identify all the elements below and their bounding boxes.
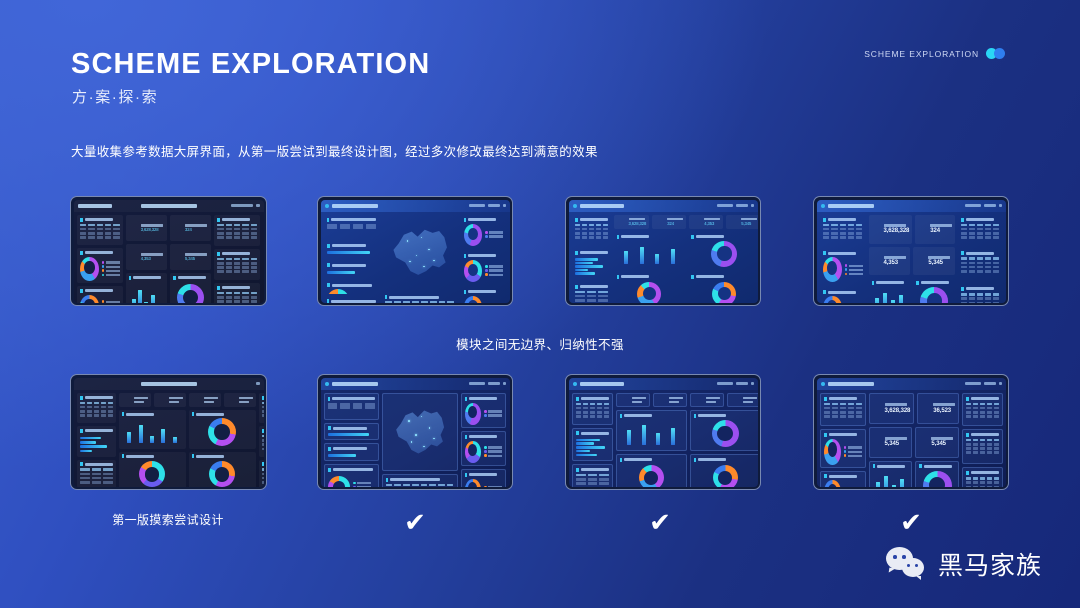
donut-chart xyxy=(920,287,948,303)
toggle-pill-icon[interactable] xyxy=(986,48,1008,59)
shield-icon xyxy=(873,403,882,414)
thumbnail-bottom-3[interactable] xyxy=(565,374,761,490)
donut-chart-card xyxy=(690,410,758,451)
donut-chart xyxy=(823,257,842,282)
bar-chart-card xyxy=(614,232,686,269)
shield-icon xyxy=(694,395,703,406)
donut-chart-card xyxy=(189,452,256,487)
shield-icon xyxy=(620,395,629,406)
kpi-card[interactable]: 324 xyxy=(915,215,955,244)
donut-chart xyxy=(711,241,737,267)
footer-brand: 黑马家族 xyxy=(886,546,1042,582)
kpi-value: 36,523 xyxy=(933,408,955,414)
thumbnail-bottom-2[interactable] xyxy=(317,374,513,490)
donut-chart xyxy=(177,284,204,303)
donut-chart xyxy=(713,465,738,486)
kpi-card[interactable] xyxy=(224,393,256,407)
donut-chart-card xyxy=(170,273,211,302)
kpi-value: 4,353 xyxy=(884,260,906,266)
donut-chart xyxy=(712,282,736,303)
shield-icon xyxy=(192,394,201,405)
shield-icon xyxy=(731,395,740,406)
kpi-card[interactable]: 3,628,328 xyxy=(869,393,915,424)
kpi-value: 5,345 xyxy=(885,441,907,447)
kpi-value: 5,345 xyxy=(931,441,953,447)
donut-chart xyxy=(80,257,99,281)
thumb-left-column xyxy=(77,215,123,303)
kpi-value: 4,353 xyxy=(141,257,163,261)
kpi-card[interactable] xyxy=(690,393,724,407)
bar-chart-card xyxy=(869,278,911,302)
thumb-header xyxy=(817,200,1006,212)
thumbnail-bottom-1[interactable] xyxy=(70,374,267,490)
logo-dot-icon xyxy=(821,382,825,386)
kpi-value: 324 xyxy=(930,228,952,234)
thumb-header xyxy=(74,200,264,212)
donut-chart xyxy=(824,439,841,465)
kpi-card[interactable]: 5,345 xyxy=(869,427,913,458)
donut-chart-card xyxy=(688,272,757,302)
shield-icon xyxy=(692,217,701,228)
province-map xyxy=(386,397,454,468)
donut-chart xyxy=(327,289,349,294)
donut-chart xyxy=(80,295,99,303)
kpi-card[interactable]: 5,345 xyxy=(913,247,955,276)
donut-chart-card xyxy=(614,272,686,302)
thumb-header xyxy=(569,200,758,212)
shield-icon xyxy=(617,217,626,228)
donut-chart xyxy=(824,480,841,486)
donut-chart-card xyxy=(690,454,758,486)
checkmark-icon-2: ✔ xyxy=(395,509,435,535)
corner-badge-label: SCHEME EXPLORATION xyxy=(864,49,979,59)
checkmark-icon-3: ✔ xyxy=(640,509,680,535)
kpi-card[interactable]: 4,353 xyxy=(689,215,723,229)
thumb-header xyxy=(321,378,510,390)
province-map xyxy=(382,215,458,290)
kpi-card[interactable] xyxy=(727,393,758,407)
shield-icon xyxy=(655,217,664,228)
kpi-card[interactable] xyxy=(616,393,650,407)
donut-chart-card xyxy=(119,452,186,487)
caption-first-version: 第一版摸索尝试设计 xyxy=(70,511,266,528)
page-subtitle: 方·案·探·索 xyxy=(72,86,158,107)
donut-chart-card xyxy=(616,454,687,486)
logo-dot-icon xyxy=(325,382,329,386)
kpi-value: 5,345 xyxy=(928,260,950,266)
kpi-card[interactable]: 4,353 xyxy=(126,244,167,270)
donut-chart xyxy=(464,296,483,303)
kpi-card[interactable]: 324 xyxy=(652,215,686,229)
kpi-card[interactable]: 36,523 xyxy=(917,393,959,424)
donut-chart xyxy=(464,260,483,282)
caption-middle: 模块之间无边界、归纳性不强 xyxy=(0,334,1080,353)
donut-chart xyxy=(209,461,235,486)
donut-chart xyxy=(923,471,952,487)
donut-chart xyxy=(464,224,483,246)
kpi-value: 3,628,328 xyxy=(884,228,910,234)
shield-icon xyxy=(916,256,925,267)
thumb-header xyxy=(817,378,1006,390)
user-icon xyxy=(918,224,927,235)
shield-icon xyxy=(919,437,928,448)
logo-dot-icon xyxy=(821,204,825,208)
donut-chart xyxy=(639,465,664,486)
kpi-card[interactable] xyxy=(653,393,687,407)
lead-paragraph: 大量收集参考数据大屏界面，从第一版尝试到最终设计图，经过多次修改最终达到满意的效… xyxy=(71,141,598,160)
donut-chart xyxy=(465,403,482,425)
shield-icon xyxy=(173,252,182,263)
footer-brand-name: 黑马家族 xyxy=(938,546,1042,582)
bar-chart-card xyxy=(616,410,687,451)
bar-chart-card xyxy=(869,461,913,487)
kpi-value: 5,345 xyxy=(185,257,207,261)
kpi-card[interactable]: 5,345 xyxy=(726,215,757,229)
kpi-value: 324 xyxy=(185,228,207,232)
bar-chart-card xyxy=(119,410,186,449)
donut-chart xyxy=(712,420,739,447)
kpi-card[interactable]: 4,353 xyxy=(869,247,911,276)
shield-icon xyxy=(122,394,131,405)
kpi-card[interactable]: 3,628,328 xyxy=(126,215,167,241)
donut-chart-card xyxy=(913,278,955,302)
donut-chart xyxy=(465,441,482,463)
donut-chart xyxy=(139,461,165,486)
donut-chart xyxy=(465,479,482,487)
shield-icon xyxy=(873,437,882,448)
thumb-header xyxy=(569,378,758,390)
donut-chart-card xyxy=(915,461,959,487)
kpi-value: 3,628,328 xyxy=(885,408,911,414)
donut-chart-card xyxy=(688,232,757,269)
kpi-card[interactable]: 3,628,328 xyxy=(614,215,650,229)
corner-badge: SCHEME EXPLORATION xyxy=(864,48,1008,59)
kpi-card[interactable] xyxy=(189,393,221,407)
thumbnail-bottom-4[interactable]: 3,628,328 36,523 5,345 xyxy=(813,374,1009,490)
thumb-center-column: 3,628,328 324 4,353 xyxy=(126,215,212,303)
kpi-card[interactable]: 5,345 xyxy=(915,427,959,458)
kpi-card[interactable] xyxy=(154,393,186,407)
thumbnail-top-3[interactable]: 3,628,328 324 4,353 5,345 xyxy=(565,196,761,306)
wechat-icon xyxy=(886,547,928,581)
shield-icon xyxy=(129,223,138,234)
thumb-header xyxy=(74,378,264,390)
shield-icon xyxy=(227,394,236,405)
shield-icon xyxy=(129,252,138,263)
thumbnail-top-4[interactable]: 3,628,328 324 4,353 xyxy=(813,196,1009,306)
donut-chart xyxy=(208,418,236,446)
bar-chart-card xyxy=(126,273,167,302)
donut-chart-card xyxy=(189,410,256,449)
shield-icon xyxy=(872,224,881,235)
donut-chart xyxy=(328,476,350,486)
kpi-card[interactable]: 324 xyxy=(170,215,211,241)
checkmark-icon-4: ✔ xyxy=(891,509,931,535)
thumbnail-top-2[interactable] xyxy=(317,196,513,306)
kpi-card[interactable]: 3,628,328 xyxy=(869,215,913,244)
kpi-value: 3,628,328 xyxy=(141,228,163,232)
shield-icon xyxy=(657,395,666,406)
toggle-circle-blue xyxy=(994,48,1005,59)
thumbnail-top-1[interactable]: 3,628,328 324 4,353 xyxy=(70,196,267,306)
shield-icon xyxy=(157,394,166,405)
shield-icon xyxy=(729,217,738,228)
thumb-right-column xyxy=(214,215,260,303)
shield-icon xyxy=(173,223,182,234)
logo-dot-icon xyxy=(573,204,577,208)
logo-dot-icon xyxy=(573,382,577,386)
donut-chart xyxy=(637,282,661,303)
kpi-card[interactable] xyxy=(119,393,151,407)
page-title: SCHEME EXPLORATION xyxy=(71,48,430,81)
kpi-card[interactable]: 5,345 xyxy=(170,244,211,270)
thumb-header xyxy=(321,200,510,212)
user-icon xyxy=(921,403,930,414)
shield-icon xyxy=(872,256,881,267)
donut-chart xyxy=(823,296,842,302)
logo-dot-icon xyxy=(325,204,329,208)
